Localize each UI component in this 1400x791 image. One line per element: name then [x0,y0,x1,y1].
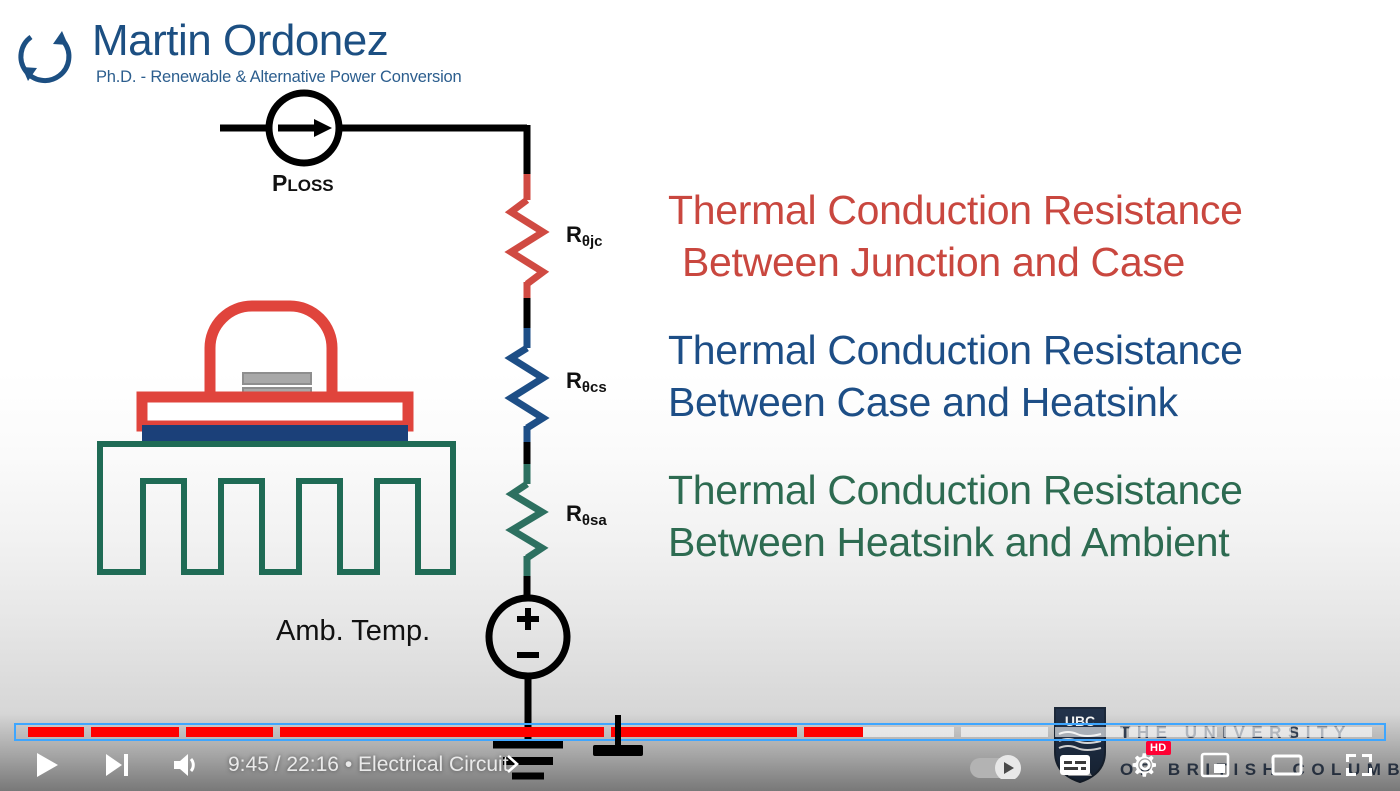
theater-mode-button[interactable] [1264,744,1310,786]
gear-icon [1130,750,1160,780]
chapter-segment[interactable] [804,727,954,737]
chapter-segment[interactable] [1129,727,1217,737]
bullet-separator: • [345,753,352,776]
subtitles-icon [1059,753,1091,777]
description-line-1: Thermal Conduction Resistance [668,464,1243,516]
resistor-label-rsa: Rθsa [566,501,607,529]
video-player-controls: 9:45 / 22:16 • Electrical Circuit [0,713,1400,791]
volume-button[interactable] [164,744,210,786]
next-icon [103,751,131,779]
chapter-title: Electrical Circuit [358,753,509,776]
voltage-source-icon [489,598,567,676]
miniplayer-button[interactable] [1192,744,1238,786]
ploss-label: PLOSS [272,170,334,197]
settings-button[interactable] [1122,744,1168,786]
next-video-button[interactable] [94,744,140,786]
chevron-right-icon[interactable] [504,753,522,775]
fullscreen-icon [1344,752,1374,778]
play-icon [34,751,60,779]
play-button[interactable] [24,744,70,786]
current-time: 9:45 [228,753,269,776]
subtitles-button[interactable] [1052,744,1098,786]
resistor-rjc [511,174,543,300]
chapter-played-fill [611,727,798,737]
description-junction-case: Thermal Conduction Resistance Between Ju… [668,184,1243,288]
description-line-2: Between Junction and Case [668,236,1243,288]
chapter-played-fill [91,727,179,737]
chapter-played-fill [28,727,84,737]
description-line-1: Thermal Conduction Resistance [668,324,1243,376]
chapter-segment[interactable] [1298,727,1372,737]
description-case-heatsink: Thermal Conduction Resistance Between Ca… [668,324,1243,428]
resistor-rsa [512,464,542,578]
description-line-2: Between Case and Heatsink [668,376,1243,428]
description-line-1: Thermal Conduction Resistance [668,184,1243,236]
resistor-label-rjc: Rθjc [566,222,603,250]
theater-icon [1271,752,1303,778]
chapter-segment[interactable] [91,727,179,737]
chapter-segment[interactable] [961,727,1049,737]
autoplay-icon [968,751,1026,779]
fullscreen-button[interactable] [1336,744,1382,786]
chapter-played-fill [186,727,274,737]
resistor-label-rcs: Rθcs [566,368,607,396]
chapter-segment[interactable] [1055,727,1122,737]
resistor-rcs [511,328,543,444]
chapter-segment[interactable] [1224,727,1291,737]
chapter-played-fill [280,727,604,737]
device-heatsink-illustration [100,306,453,572]
volume-icon [172,751,202,779]
miniplayer-icon [1200,752,1230,778]
chapter-played-fill [804,727,862,737]
ambient-temp-label: Amb. Temp. [276,615,430,648]
description-line-2: Between Heatsink and Ambient [668,516,1243,568]
chapter-segment[interactable] [611,727,798,737]
chapter-segment[interactable] [28,727,84,737]
total-time: 22:16 [286,753,339,776]
chapter-segment[interactable] [186,727,274,737]
chapter-segment[interactable] [280,727,604,737]
video-player-stage: Martin Ordonez Ph.D. - Renewable & Alter… [0,0,1400,791]
control-bar: 9:45 / 22:16 • Electrical Circuit [0,741,1400,791]
time-and-chapter-display: 9:45 / 22:16 • Electrical Circuit [228,753,509,777]
autoplay-toggle[interactable] [966,744,1028,786]
thermal-circuit-diagram: PLOSS Amb. Temp. Rθjc Rθcs Rθsa [0,0,700,791]
description-heatsink-ambient: Thermal Conduction Resistance Between He… [668,464,1243,568]
time-separator: / [275,753,281,776]
current-source-icon [220,93,527,163]
progress-bar[interactable] [0,721,1400,743]
